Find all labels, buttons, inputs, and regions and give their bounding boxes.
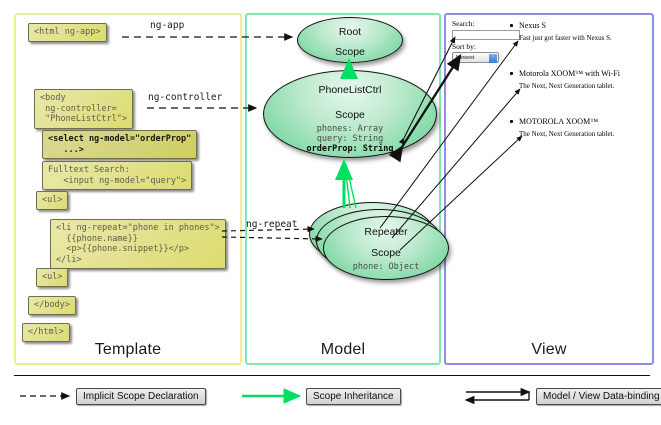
bullet-icon <box>510 72 513 75</box>
scope-prop-phone: phone: Object <box>324 262 448 272</box>
code-box-li-ng-repeat: <li ng-repeat="phone in phones"> {{phone… <box>50 219 226 269</box>
code-box-select-tag: <select ng-model="orderProp" ...> <box>42 130 197 159</box>
sort-by-select[interactable]: Newest ↕ <box>452 52 499 63</box>
legend-divider <box>14 375 650 376</box>
scope-phonelistctrl-props: phones: Array query: String orderProp: S… <box>264 124 436 154</box>
bullet-icon <box>510 24 513 27</box>
scope-repeater-props: phone: Object <box>324 262 448 272</box>
phone-snippet: The Next, Next Generation tablet. <box>519 130 614 138</box>
chevron-updown-icon: ↕ <box>489 54 497 63</box>
legend-item-model-view-data-binding: Model / View Data-binding <box>536 388 661 405</box>
legend-line-binding-join <box>526 392 529 400</box>
code-box-fulltext-search: Fulltext Search: <input ng-model="query"… <box>42 161 192 190</box>
panel-template-label: Template <box>16 341 240 359</box>
legend-item-scope-inheritance: Scope Inheritance <box>306 388 401 405</box>
phone-name: Motorola XOOM™ with Wi-Fi <box>519 69 620 78</box>
bullet-icon <box>510 120 513 123</box>
scope-root-title-line2: Scope <box>298 38 402 58</box>
code-box-html-tag: <html ng-app> <box>28 23 107 42</box>
phone-name: MOTOROLA XOOM™ <box>519 117 598 126</box>
scope-prop-phones: phones: Array <box>264 124 436 134</box>
panel-view-label: View <box>446 341 652 359</box>
phone-name: Nexus S <box>519 21 546 30</box>
view-rendered-app: Search: Sort by: Newest ↕ Nexus S Fast j… <box>452 19 644 339</box>
scope-prop-query: query: String <box>264 134 436 144</box>
phone-snippet: Fast just got faster with Nexus S. <box>519 34 612 42</box>
phone-snippet: The Next, Next Generation tablet. <box>519 82 614 90</box>
code-box-body-close: </body> <box>28 296 76 315</box>
panel-model: Model <box>245 13 441 365</box>
scope-phonelistctrl-title-line1: PhoneListCtrl <box>264 71 436 96</box>
legend: Implicit Scope Declaration Scope Inherit… <box>14 383 650 415</box>
scope-repeater: Repeater Scope phone: Object <box>323 216 449 280</box>
scope-repeater-title-line1: Repeater <box>324 217 448 238</box>
search-input[interactable] <box>452 30 520 40</box>
code-box-body-tag: <body ng-controller= "PhoneListCtrl"> <box>34 89 133 129</box>
scope-prop-orderprop: orderProp: String <box>307 144 394 154</box>
scope-phonelistctrl: PhoneListCtrl Scope phones: Array query:… <box>263 70 437 158</box>
code-box-html-close: </html> <box>22 323 70 342</box>
panel-model-label: Model <box>247 341 439 359</box>
view-search-label: Search: <box>452 19 475 28</box>
wire-label-ng-app: ng-app <box>150 20 184 31</box>
scope-root-title-line1: Root <box>298 18 402 38</box>
view-sortby-label: Sort by: <box>452 42 476 51</box>
legend-item-implicit-scope-declaration: Implicit Scope Declaration <box>76 388 206 405</box>
diagram-canvas: Template Model View <html ng-app> <body … <box>0 0 661 425</box>
wire-label-ng-repeat: ng-repeat <box>246 219 297 230</box>
scope-phonelistctrl-title-line2: Scope <box>264 96 436 121</box>
scope-repeater-title-line2: Scope <box>324 238 448 259</box>
scope-root: Root Scope <box>297 17 403 63</box>
code-box-ul-close: <ul> <box>36 268 68 287</box>
wire-label-ng-controller: ng-controller <box>148 92 222 103</box>
code-box-ul-open: <ul> <box>36 191 68 210</box>
sort-by-select-value: Newest <box>456 55 474 61</box>
